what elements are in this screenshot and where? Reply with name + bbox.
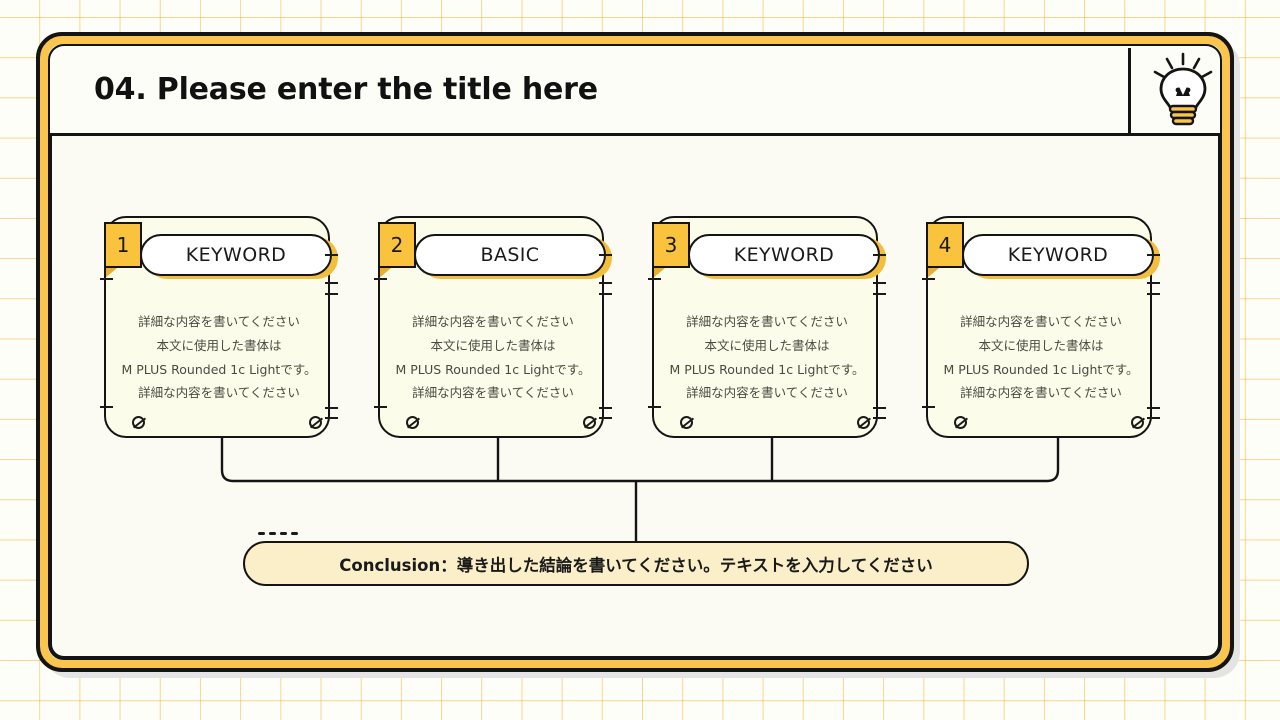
card-header-capsule: KEYWORD	[688, 234, 882, 278]
card-edge-tick	[374, 278, 387, 280]
card-edge-tick	[1147, 282, 1160, 284]
card-number-badge: 2	[378, 222, 416, 268]
punch-hole-right-icon	[1131, 416, 1144, 429]
card-edge-tick	[325, 407, 338, 409]
card-body-line: 詳細な内容を書いてください	[390, 310, 596, 334]
card-keyword-label: KEYWORD	[140, 234, 332, 276]
card-edge-tick	[325, 293, 338, 295]
card-edge-tick	[873, 254, 886, 256]
keyword-card-4[interactable]: KEYWORD詳細な内容を書いてください本文に使用した書体はM PLUS Rou…	[918, 208, 1152, 438]
conclusion-accent-dashes	[258, 532, 308, 540]
card-edge-tick	[325, 417, 338, 419]
punch-hole-left-icon	[954, 416, 967, 429]
page-title: 04. Please enter the title here	[94, 72, 598, 107]
punch-hole-right-icon	[583, 416, 596, 429]
card-header-capsule: KEYWORD	[140, 234, 334, 278]
keyword-card-3[interactable]: KEYWORD詳細な内容を書いてください本文に使用した書体はM PLUS Rou…	[644, 208, 878, 438]
card-body-line: 詳細な内容を書いてください	[664, 381, 870, 405]
card-edge-tick	[648, 278, 661, 280]
keyword-card-1[interactable]: KEYWORD詳細な内容を書いてください本文に使用した書体はM PLUS Rou…	[96, 208, 330, 438]
card-body-text: 詳細な内容を書いてください本文に使用した書体はM PLUS Rounded 1c…	[938, 310, 1144, 405]
punch-hole-left-icon	[680, 416, 693, 429]
card-edge-tick	[1147, 407, 1160, 409]
header-vertical-divider	[1128, 48, 1131, 134]
lightbulb-icon	[1148, 52, 1218, 128]
card-keyword-label: KEYWORD	[688, 234, 880, 276]
card-body-line: 本文に使用した書体は	[390, 334, 596, 358]
punch-hole-right-icon	[857, 416, 870, 429]
card-body-line: M PLUS Rounded 1c Lightです。	[390, 358, 596, 382]
card-edge-tick	[873, 417, 886, 419]
card-edge-tick	[374, 406, 387, 408]
card-body-line: 本文に使用した書体は	[116, 334, 322, 358]
card-edge-tick	[599, 293, 612, 295]
card-number-badge: 4	[926, 222, 964, 268]
card-number-badge: 3	[652, 222, 690, 268]
card-body-line: 本文に使用した書体は	[938, 334, 1144, 358]
card-edge-tick	[922, 278, 935, 280]
card-edge-tick	[873, 407, 886, 409]
card-header-capsule: BASIC	[414, 234, 608, 278]
card-number-badge: 1	[104, 222, 142, 268]
card-edge-tick	[1147, 293, 1160, 295]
card-keyword-label: BASIC	[414, 234, 606, 276]
card-body-text: 詳細な内容を書いてください本文に使用した書体はM PLUS Rounded 1c…	[116, 310, 322, 405]
card-body-line: 詳細な内容を書いてください	[664, 310, 870, 334]
card-edge-tick	[599, 407, 612, 409]
card-body-line: 詳細な内容を書いてください	[116, 310, 322, 334]
punch-hole-right-icon	[309, 416, 322, 429]
card-edge-tick	[599, 254, 612, 256]
card-edge-tick	[599, 417, 612, 419]
card-body-line: 詳細な内容を書いてください	[938, 381, 1144, 405]
card-header-capsule: KEYWORD	[962, 234, 1156, 278]
card-edge-tick	[1147, 417, 1160, 419]
card-edge-tick	[325, 282, 338, 284]
keyword-card-2[interactable]: BASIC詳細な内容を書いてください本文に使用した書体はM PLUS Round…	[370, 208, 604, 438]
card-keyword-label: KEYWORD	[962, 234, 1154, 276]
punch-hole-left-icon	[132, 416, 145, 429]
card-edge-tick	[648, 406, 661, 408]
card-body-line: M PLUS Rounded 1c Lightです。	[664, 358, 870, 382]
conclusion-text: Conclusion：導き出した結論を書いてください。テキストを入力してください	[339, 552, 932, 576]
card-body-line: M PLUS Rounded 1c Lightです。	[938, 358, 1144, 382]
card-body-text: 詳細な内容を書いてください本文に使用した書体はM PLUS Rounded 1c…	[664, 310, 870, 405]
card-edge-tick	[100, 406, 113, 408]
card-edge-tick	[1147, 254, 1160, 256]
card-body-line: 本文に使用した書体は	[664, 334, 870, 358]
card-edge-tick	[100, 278, 113, 280]
card-body-line: 詳細な内容を書いてください	[390, 381, 596, 405]
card-edge-tick	[873, 293, 886, 295]
card-edge-tick	[922, 406, 935, 408]
header-divider-rule	[50, 133, 1220, 136]
card-body-line: M PLUS Rounded 1c Lightです。	[116, 358, 322, 382]
card-body-line: 詳細な内容を書いてください	[116, 381, 322, 405]
card-edge-tick	[873, 282, 886, 284]
card-body-line: 詳細な内容を書いてください	[938, 310, 1144, 334]
card-edge-tick	[325, 254, 338, 256]
card-edge-tick	[599, 282, 612, 284]
slide-header: 04. Please enter the title here	[50, 46, 1220, 134]
card-body-text: 詳細な内容を書いてください本文に使用した書体はM PLUS Rounded 1c…	[390, 310, 596, 405]
punch-hole-left-icon	[406, 416, 419, 429]
conclusion-bar: Conclusion：導き出した結論を書いてください。テキストを入力してください	[243, 541, 1029, 586]
